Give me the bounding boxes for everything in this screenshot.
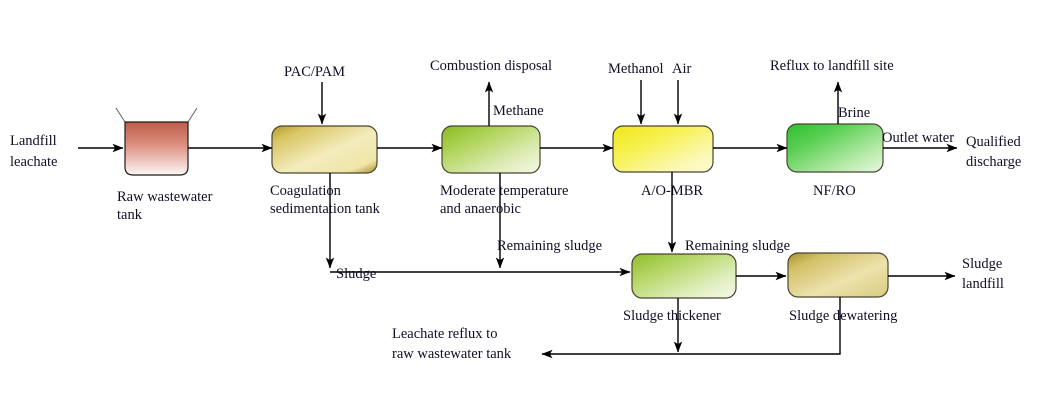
node-label-coagulation-line1: Coagulation (270, 183, 342, 199)
label-brine: Brine (838, 105, 870, 121)
label-sludge-landfill-line2: landfill (962, 276, 1004, 292)
node-raw-wastewater-tank[interactable]: Raw wastewater tank (116, 108, 213, 223)
node-coagulation-sedimentation-tank[interactable]: Coagulation sedimentation tank (270, 126, 381, 217)
label-air: Air (672, 61, 692, 77)
node-nf-ro[interactable]: NF/RO (787, 124, 883, 199)
flow-diagram-canvas: Raw wastewater tank Coagulation sediment… (0, 0, 1048, 417)
label-remaining-sludge-mbr: Remaining sludge (685, 238, 790, 254)
node-label-anaerobic-line2: and anaerobic (440, 201, 521, 217)
node-ao-mbr[interactable]: A/O-MBR (613, 126, 713, 199)
process-flow-diagram: Raw wastewater tank Coagulation sediment… (0, 0, 1048, 417)
node-moderate-temperature-anaerobic[interactable]: Moderate temperature and anaerobic (440, 126, 568, 217)
node-label-coagulation-line2: sedimentation tank (270, 201, 381, 217)
label-reflux-to-landfill-site: Reflux to landfill site (770, 58, 894, 74)
node-label-raw-tank-line1: Raw wastewater (117, 189, 213, 205)
node-sludge-dewatering[interactable]: Sludge dewatering (788, 253, 897, 324)
node-label-raw-tank-line2: tank (117, 207, 143, 223)
tank-body (125, 122, 188, 175)
label-leachate-reflux-line1: Leachate reflux to (392, 326, 497, 342)
edge-leachate-reflux-return-line (542, 297, 840, 354)
label-sludge-landfill-line1: Sludge (962, 256, 1002, 272)
node-label-sludge-thickener: Sludge thickener (623, 308, 721, 324)
label-remaining-sludge-anaerobic: Remaining sludge (497, 238, 602, 254)
label-qualified-discharge-line2: discharge (966, 154, 1021, 170)
tank-flare-right (188, 108, 197, 122)
label-outlet-water: Outlet water (882, 130, 954, 146)
tank-flare-left (116, 108, 125, 122)
node-label-sludge-dewatering: Sludge dewatering (789, 308, 897, 324)
box-body (632, 254, 736, 298)
label-landfill-leachate-line2: leachate (10, 154, 58, 170)
label-sludge: Sludge (336, 266, 376, 282)
box-body (788, 253, 888, 297)
label-combustion-disposal: Combustion disposal (430, 58, 552, 74)
node-sludge-thickener[interactable]: Sludge thickener (623, 254, 736, 324)
label-methane: Methane (493, 103, 544, 119)
label-leachate-reflux-line2: raw wastewater tank (392, 346, 512, 362)
node-label-anaerobic-line1: Moderate temperature (440, 183, 568, 199)
box-body (613, 126, 713, 172)
box-body (272, 126, 377, 173)
box-body (442, 126, 540, 173)
box-body (787, 124, 883, 172)
label-qualified-discharge-line1: Qualified (966, 134, 1022, 150)
node-label-nf-ro: NF/RO (813, 183, 856, 199)
label-pac-pam: PAC/PAM (284, 64, 345, 80)
label-landfill-leachate-line1: Landfill (10, 133, 57, 149)
label-methanol: Methanol (608, 61, 664, 77)
